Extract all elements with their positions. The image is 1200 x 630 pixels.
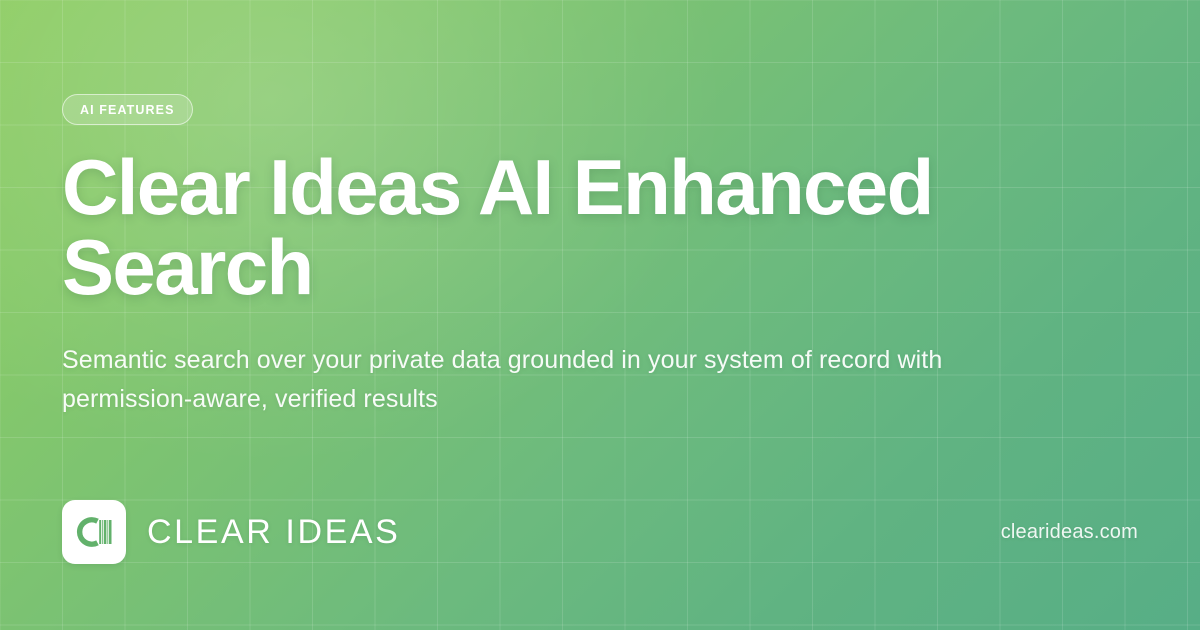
- hero-footer: CLEAR IDEAS clearideas.com: [62, 498, 1138, 566]
- badge-label: AI FEATURES: [80, 103, 175, 117]
- clear-ideas-logo-icon: [62, 500, 126, 564]
- hero-content: AI FEATURES Clear Ideas AI Enhanced Sear…: [0, 0, 1200, 630]
- page-title: Clear Ideas AI Enhanced Search: [62, 147, 1022, 307]
- site-url: clearideas.com: [1001, 521, 1138, 544]
- brand-lockup: CLEAR IDEAS: [62, 500, 400, 564]
- page-subtitle: Semantic search over your private data g…: [62, 341, 962, 419]
- hero-banner: AI FEATURES Clear Ideas AI Enhanced Sear…: [0, 0, 1200, 630]
- brand-name: CLEAR IDEAS: [147, 513, 400, 552]
- ai-features-badge: AI FEATURES: [62, 94, 193, 125]
